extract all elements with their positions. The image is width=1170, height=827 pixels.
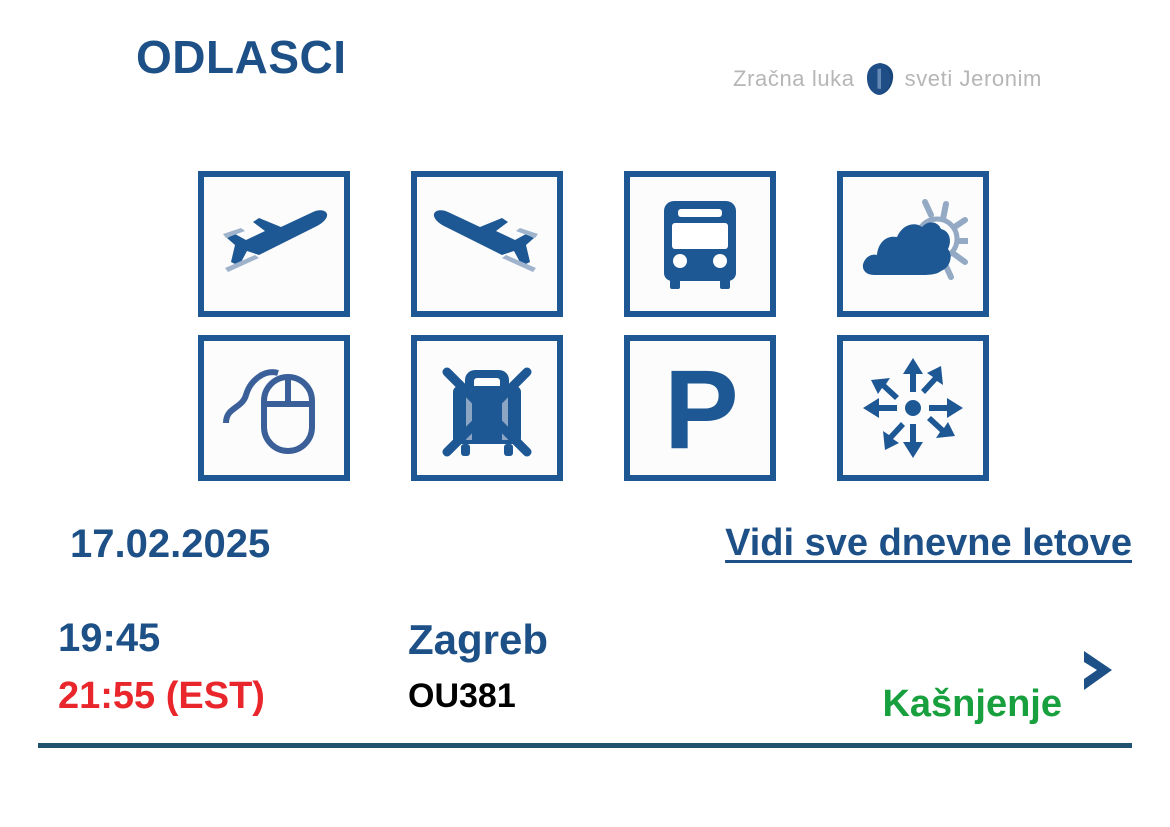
- arrivals-icon: [428, 198, 546, 290]
- airport-logo: Zračna luka sveti Jeronim: [733, 62, 1042, 96]
- service-tile-de-icing[interactable]: [837, 335, 989, 481]
- logo-text-after: sveti Jeronim: [905, 66, 1042, 92]
- computer-mouse-icon: [220, 355, 328, 461]
- scheduled-time: 19:45: [58, 617, 265, 660]
- page-title: ODLASCI: [136, 34, 347, 80]
- service-tile-arrivals[interactable]: [411, 171, 563, 317]
- flight-destination-block: Zagreb OU381: [408, 617, 548, 715]
- destination: Zagreb: [408, 617, 548, 662]
- service-tile-parking[interactable]: P: [624, 335, 776, 481]
- service-tile-online[interactable]: [198, 335, 350, 481]
- logo-text-before: Zračna luka: [733, 66, 855, 92]
- flight-date: 17.02.2025: [70, 524, 270, 564]
- service-tile-departures[interactable]: [198, 171, 350, 317]
- parking-icon: P: [654, 356, 746, 460]
- flight-row[interactable]: 19:45 21:55 (EST) Zagreb OU381 Kašnjenje: [0, 617, 1170, 745]
- shield-logo-icon: [865, 62, 895, 96]
- chevron-right-icon[interactable]: [1074, 645, 1122, 701]
- row-divider: [38, 743, 1132, 748]
- lost-luggage-icon: [431, 356, 543, 460]
- service-icon-grid: P: [198, 171, 989, 481]
- all-daily-flights-link[interactable]: Vidi sve dnevne letove: [725, 524, 1132, 562]
- flight-number: OU381: [408, 678, 548, 715]
- estimated-time: 21:55 (EST): [58, 676, 265, 717]
- service-tile-weather[interactable]: [837, 171, 989, 317]
- flight-time-block: 19:45 21:55 (EST): [58, 617, 265, 717]
- de-icing-icon: [861, 356, 965, 460]
- svg-text:P: P: [664, 356, 739, 460]
- weather-icon: [858, 195, 968, 293]
- service-tile-lost-luggage[interactable]: [411, 335, 563, 481]
- bus-icon: [656, 195, 744, 293]
- service-tile-bus[interactable]: [624, 171, 776, 317]
- status-badge: Kašnjenje: [882, 685, 1062, 723]
- departures-icon: [215, 198, 333, 290]
